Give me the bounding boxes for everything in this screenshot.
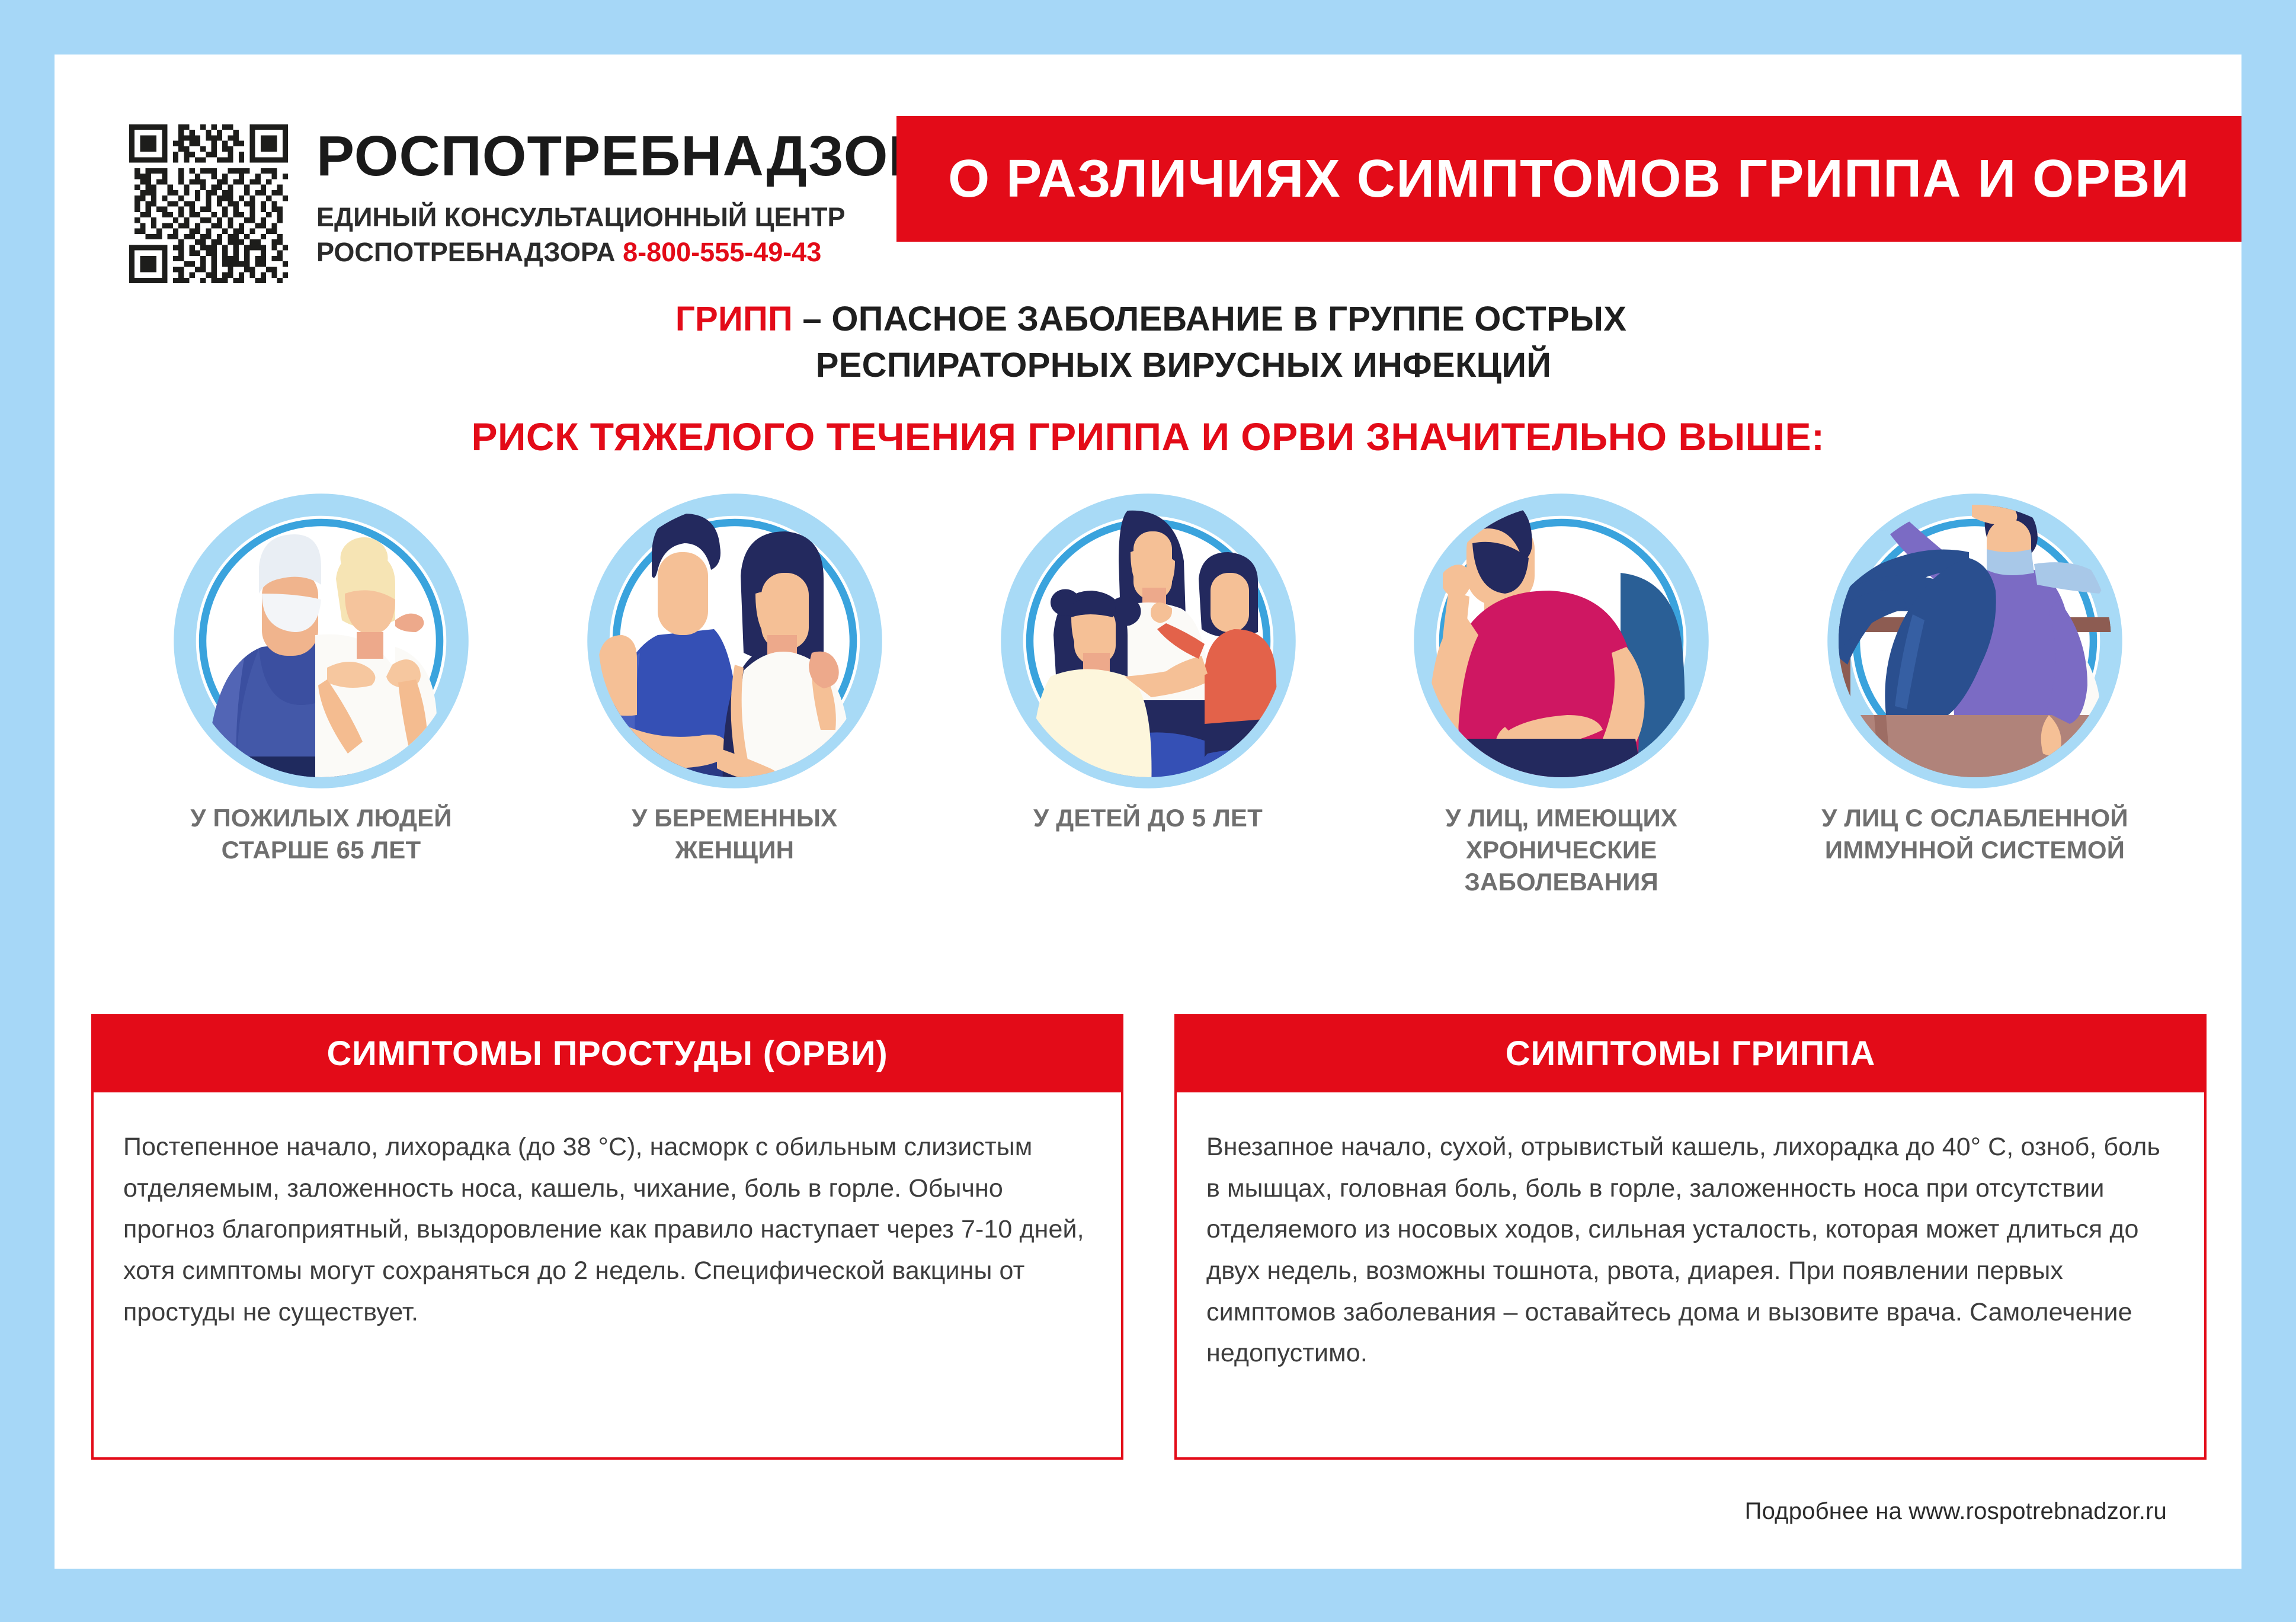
risk-group-pregnant-label-line2: ЖЕНЩИН [632,834,837,866]
man-on-couch-illustration [1827,493,2123,789]
page-title: О РАЗЛИЧИЯХ СИМПТОМОВ ГРИППА И ОРВИ [948,149,2190,210]
flu-panel-body: Внезапное начало, сухой, отрывистый каше… [1174,1092,2207,1460]
risk-group-pregnant-label: У БЕРЕМЕННЫХ ЖЕНЩИН [632,802,837,866]
consultation-center-label: РОСПОТРЕБНАДЗОРА [316,237,616,267]
pregnant-couple-illustration [587,493,883,789]
title-banner: О РАЗЛИЧИЯХ СИМПТОМОВ ГРИППА И ОРВИ [896,116,2241,242]
qr-code-icon [129,124,288,283]
cold-panel-header: СИМПТОМЫ ПРОСТУДЫ (ОРВИ) [91,1014,1123,1092]
risk-group-immune-label-line1: У ЛИЦ С ОСЛАБЛЕННОЙ [1821,802,2128,834]
poster-card: РОСПОТРЕБНАДЗОР ЕДИНЫЙ КОНСУЛЬТАЦИОННЫЙ … [55,55,2241,1569]
flu-symptoms-panel: СИМПТОМЫ ГРИППА Внезапное начало, сухой,… [1174,1014,2207,1460]
risk-group-children: У ДЕТЕЙ ДО 5 ЛЕТ [959,493,1338,897]
risk-group-elderly-label: У ПОЖИЛЫХ ЛЮДЕЙ СТАРШЕ 65 ЛЕТ [190,802,451,866]
risk-group-immune-label: У ЛИЦ С ОСЛАБЛЕННОЙ ИММУННОЙ СИСТЕМОЙ [1821,802,2128,866]
mother-with-children-illustration [1000,493,1296,789]
footer-website-note: Подробнее на www.rospotrebnadzor.ru [1745,1498,2167,1525]
risk-group-elderly: У ПОЖИЛЫХ ЛЮДЕЙ СТАРШЕ 65 ЛЕТ [132,493,511,897]
risk-group-children-label-line1: У ДЕТЕЙ ДО 5 ЛЕТ [1033,802,1263,834]
risk-group-pregnant: У БЕРЕМЕННЫХ ЖЕНЩИН [545,493,924,897]
cold-symptoms-panel: СИМПТОМЫ ПРОСТУДЫ (ОРВИ) Постепенное нач… [91,1014,1123,1460]
risk-group-chronic-label-line1: У ЛИЦ, ИМЕЮЩИХ [1372,802,1751,834]
intro-highlight-word: ГРИПП [675,300,793,338]
cold-panel-title: СИМПТОМЫ ПРОСТУДЫ (ОРВИ) [326,1034,888,1073]
intro-line-1: ГРИПП – ОПАСНОЕ ЗАБОЛЕВАНИЕ В ГРУППЕ ОСТ… [55,296,2241,342]
risk-heading: РИСК ТЯЖЕЛОГО ТЕЧЕНИЯ ГРИППА И ОРВИ ЗНАЧ… [55,414,2241,459]
risk-group-chronic: У ЛИЦ, ИМЕЮЩИХ ХРОНИЧЕСКИЕ ЗАБОЛЕВАНИЯ [1372,493,1751,897]
organization-name: РОСПОТРЕБНАДЗОР [316,128,927,185]
risk-group-immune: У ЛИЦ С ОСЛАБЛЕННОЙ ИММУННОЙ СИСТЕМОЙ [1785,493,2164,897]
header: РОСПОТРЕБНАДЗОР ЕДИНЫЙ КОНСУЛЬТАЦИОННЫЙ … [55,55,2241,303]
risk-group-elderly-label-line2: СТАРШЕ 65 ЛЕТ [190,834,451,866]
risk-groups-row: У ПОЖИЛЫХ ЛЮДЕЙ СТАРШЕ 65 ЛЕТ [55,493,2241,897]
intro-line-1-rest: – ОПАСНОЕ ЗАБОЛЕВАНИЕ В ГРУППЕ ОСТРЫХ [793,300,1626,338]
flu-symptoms-text: Внезапное начало, сухой, отрывистый каше… [1206,1127,2173,1374]
flu-panel-header: СИМПТОМЫ ГРИППА [1174,1014,2207,1092]
risk-group-chronic-label-line2: ХРОНИЧЕСКИЕ ЗАБОЛЕВАНИЯ [1372,834,1751,898]
risk-group-elderly-label-line1: У ПОЖИЛЫХ ЛЮДЕЙ [190,802,451,834]
intro-line-2: РЕСПИРАТОРНЫХ ВИРУСНЫХ ИНФЕКЦИЙ [55,342,2241,389]
symptom-panels: СИМПТОМЫ ПРОСТУДЫ (ОРВИ) Постепенное нач… [91,1014,2207,1460]
consultation-center-line2: РОСПОТРЕБНАДЗОРА 8-800-555-49-43 [316,235,927,270]
logo-block: РОСПОТРЕБНАДЗОР ЕДИНЫЙ КОНСУЛЬТАЦИОННЫЙ … [129,124,927,283]
cold-panel-body: Постепенное начало, лихорадка (до 38 °C)… [91,1092,1123,1460]
flu-panel-title: СИМПТОМЫ ГРИППА [1506,1034,1875,1073]
poster-background: РОСПОТРЕБНАДЗОР ЕДИНЫЙ КОНСУЛЬТАЦИОННЫЙ … [0,0,2296,1622]
hotline-phone-number: 8-800-555-49-43 [623,237,821,267]
risk-group-immune-label-line2: ИММУННОЙ СИСТЕМОЙ [1821,834,2128,866]
risk-group-chronic-label: У ЛИЦ, ИМЕЮЩИХ ХРОНИЧЕСКИЕ ЗАБОЛЕВАНИЯ [1372,802,1751,897]
consultation-center-line1: ЕДИНЫЙ КОНСУЛЬТАЦИОННЫЙ ЦЕНТР [316,200,927,235]
logo-text-block: РОСПОТРЕБНАДЗОР ЕДИНЫЙ КОНСУЛЬТАЦИОННЫЙ … [316,124,927,270]
man-with-chronic-illness-illustration [1413,493,1709,789]
elderly-couple-illustration [173,493,469,789]
risk-group-pregnant-label-line1: У БЕРЕМЕННЫХ [632,802,837,834]
risk-group-children-label: У ДЕТЕЙ ДО 5 ЛЕТ [1033,802,1263,834]
cold-symptoms-text: Постепенное начало, лихорадка (до 38 °C)… [123,1127,1090,1333]
consultation-center-info: ЕДИНЫЙ КОНСУЛЬТАЦИОННЫЙ ЦЕНТР РОСПОТРЕБН… [316,200,927,270]
intro-section: ГРИПП – ОПАСНОЕ ЗАБОЛЕВАНИЕ В ГРУППЕ ОСТ… [55,296,2241,459]
